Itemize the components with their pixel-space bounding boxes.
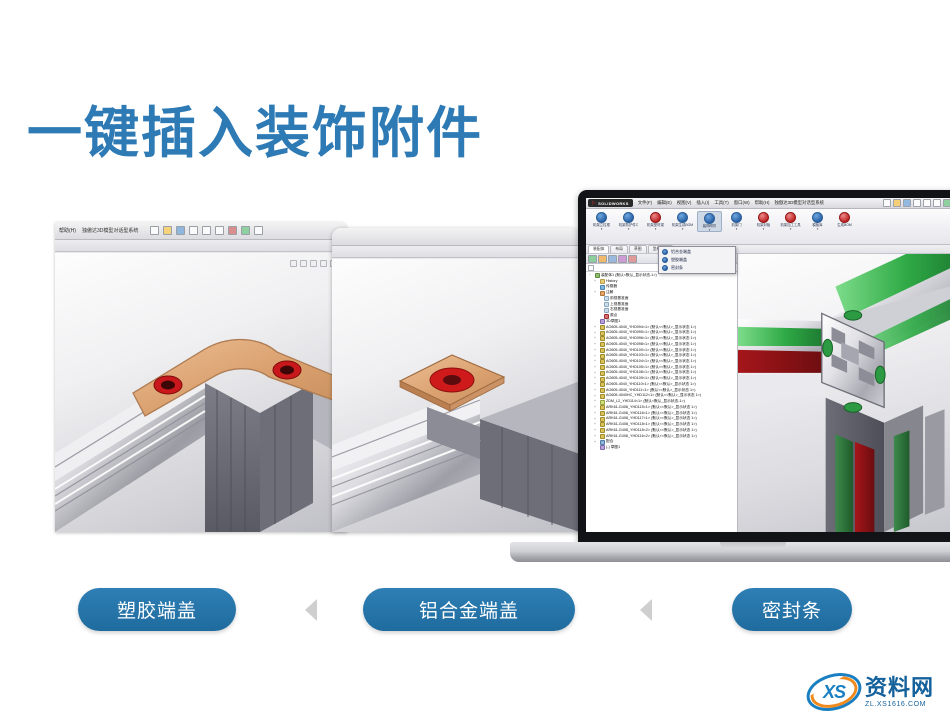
expand-icon[interactable]: + xyxy=(594,422,598,427)
chevron-down-icon[interactable]: ▾ xyxy=(682,228,684,231)
extrusion-corner-3d-model xyxy=(738,254,950,532)
menu-insert[interactable]: 插入(I) xyxy=(696,200,709,206)
part-icon xyxy=(600,388,605,393)
dropdown-label: 密封条 xyxy=(671,265,683,271)
configuration-manager-icon[interactable] xyxy=(608,255,617,263)
expand-icon[interactable]: + xyxy=(594,440,598,445)
ribbon-button-frame-beam[interactable]: 机架型材梁 ▾ xyxy=(643,211,668,230)
cad-left-toolbar[interactable] xyxy=(150,226,263,235)
open-folder-icon[interactable] xyxy=(163,226,172,235)
open-folder-icon[interactable] xyxy=(893,199,901,207)
tree-node-label: (-) 草图1 xyxy=(606,445,620,451)
expand-icon[interactable]: + xyxy=(594,382,598,387)
part-icon xyxy=(600,354,605,359)
decor-accessory-icon xyxy=(704,213,715,224)
watermark-text: 资料网 ZL.XS1616.COM xyxy=(865,677,934,708)
dropdown-item-seal-strip[interactable]: 密封条 xyxy=(659,264,735,272)
solidworks-app: ▷ SOLIDWORKS 文件(F) 编辑(E) 视图(V) 插入(I) 工具(… xyxy=(586,198,950,532)
sketch-icon xyxy=(600,445,605,450)
frame-door-icon xyxy=(731,212,742,223)
watermark-mark: XS xyxy=(806,674,862,710)
chevron-down-icon[interactable]: ▾ xyxy=(628,228,630,231)
part-icon xyxy=(600,359,605,364)
expand-icon[interactable]: + xyxy=(594,411,598,416)
chevron-down-icon[interactable]: ▾ xyxy=(817,228,819,231)
ribbon-button-generate-bom[interactable]: 生成BOM xyxy=(832,211,857,228)
part-icon xyxy=(600,422,605,427)
left-arrow-icon-1 xyxy=(305,599,317,621)
tree-node[interactable]: (-) 草图1 xyxy=(587,445,737,451)
part-icon xyxy=(600,371,605,376)
expand-icon[interactable]: + xyxy=(594,279,598,284)
part-icon xyxy=(600,417,605,422)
part-icon xyxy=(600,336,605,341)
part-icon xyxy=(600,411,605,416)
sens-icon xyxy=(600,285,605,290)
select-icon[interactable] xyxy=(215,226,224,235)
chevron-down-icon[interactable]: ▾ xyxy=(655,228,657,231)
expand-icon[interactable]: + xyxy=(594,331,598,336)
frame-bom-icon xyxy=(677,212,688,223)
undo-icon[interactable] xyxy=(202,226,211,235)
button-alu-endcap[interactable]: 铝合金端盖 xyxy=(363,588,575,631)
measure-icon[interactable] xyxy=(228,226,237,235)
solidworks-logo: ▷ SOLIDWORKS xyxy=(588,199,633,207)
root-icon xyxy=(595,273,600,278)
dropdown-label: 铝合金端盖 xyxy=(671,249,691,255)
part-icon xyxy=(600,325,605,330)
button-seal-strip[interactable]: 密封条 xyxy=(732,588,852,631)
undo-icon[interactable] xyxy=(923,199,931,207)
cad-left-doc-name: 独傲达3D模型对话型系统 xyxy=(82,227,138,234)
ribbon-button-frame-door[interactable]: 机架门 ▾ xyxy=(724,211,749,230)
plane-icon xyxy=(604,308,609,313)
expand-icon[interactable]: + xyxy=(594,371,598,376)
part-icon xyxy=(600,405,605,410)
appearance-manager-icon[interactable] xyxy=(628,255,637,263)
options-icon[interactable] xyxy=(254,226,263,235)
ribbon-button-template-library[interactable]: 模板库 ▾ xyxy=(805,211,830,230)
laptop-screen: ▷ SOLIDWORKS 文件(F) 编辑(E) 视图(V) 插入(I) 工具(… xyxy=(578,190,950,542)
part-icon xyxy=(600,331,605,336)
menu-tools[interactable]: 工具(T) xyxy=(714,200,728,206)
expand-icon[interactable]: + xyxy=(594,342,598,347)
chevron-down-icon[interactable]: ▾ xyxy=(790,228,792,231)
part-icon xyxy=(600,394,605,399)
button-plastic-endcap[interactable]: 塑胶端盖 xyxy=(78,588,236,631)
watermark-name: 资料网 xyxy=(865,677,934,699)
menu-edit[interactable]: 编辑(E) xyxy=(657,200,672,206)
tree-node-label: ARK61-G408_YHD116<2> (默认<<默认>_显示状态 1>) xyxy=(606,434,697,440)
watermark: XS 资料网 ZL.XS1616.COM xyxy=(806,668,946,716)
hist-icon xyxy=(600,279,605,284)
print-icon[interactable] xyxy=(189,226,198,235)
seal-strip-icon xyxy=(662,265,668,271)
cad-left-menu[interactable]: 帮助(H) xyxy=(59,227,76,234)
frame-column-icon xyxy=(596,212,607,223)
solidworks-quick-access-toolbar[interactable] xyxy=(883,199,950,207)
ribbon-button-frame-guard[interactable]: 机架防护件C ▾ xyxy=(616,211,641,230)
ribbon-button-frame-bom[interactable]: 机架生成BOM ▾ xyxy=(670,211,695,230)
ribbon-button-frame-panel[interactable]: 机架封板 ▾ xyxy=(751,211,776,230)
part-icon xyxy=(600,342,605,347)
property-manager-icon[interactable] xyxy=(598,255,607,263)
solidworks-ribbon[interactable]: 机架立柱框 ▾ 机架防护件C ▾ 机架型材梁 ▾ xyxy=(586,209,950,245)
laptop-notch xyxy=(720,542,786,549)
feature-manager-panel[interactable]: −装配体1 (默认<默认_显示状态-1>)+History传感器+注解前视基准面… xyxy=(586,254,738,532)
expand-icon[interactable]: + xyxy=(594,417,598,422)
solidworks-logo-text: SOLIDWORKS xyxy=(598,201,629,206)
solidworks-command-tabs[interactable]: 装配体 布局 草图 型材系列 xyxy=(586,245,950,254)
menu-help[interactable]: 帮助(H) xyxy=(755,200,770,206)
expand-icon[interactable]: + xyxy=(594,376,598,381)
expand-icon[interactable]: + xyxy=(594,359,598,364)
plane-icon xyxy=(604,302,609,307)
part-icon xyxy=(600,428,605,433)
expand-icon[interactable]: + xyxy=(594,399,598,404)
new-document-icon[interactable] xyxy=(883,199,891,207)
expand-icon[interactable]: + xyxy=(594,354,598,359)
feature-tree[interactable]: −装配体1 (默认<默认_显示状态-1>)+History传感器+注解前视基准面… xyxy=(586,272,737,532)
menu-view[interactable]: 视图(V) xyxy=(677,200,692,206)
collapse-icon[interactable]: − xyxy=(589,273,593,278)
decor-accessory-dropdown[interactable]: 铝合金端盖 塑胶端盖 密封条 xyxy=(658,246,736,274)
print-icon[interactable] xyxy=(913,199,921,207)
tab-assembly[interactable]: 装配体 xyxy=(588,245,609,253)
appearance-icon[interactable] xyxy=(241,226,250,235)
page-title: 一键插入装饰附件 xyxy=(27,88,483,168)
expand-icon[interactable]: + xyxy=(594,348,598,353)
tab-sketch[interactable]: 草图 xyxy=(629,245,647,253)
menu-file[interactable]: 文件(F) xyxy=(638,200,652,206)
expand-icon[interactable]: + xyxy=(594,336,598,341)
cad-left-3d-model xyxy=(55,253,347,532)
mate-icon xyxy=(600,440,605,445)
part-icon xyxy=(600,348,605,353)
chevron-down-icon[interactable]: ▾ xyxy=(601,228,603,231)
feature-tree-icon[interactable] xyxy=(588,255,597,263)
expand-icon[interactable]: + xyxy=(594,405,598,410)
new-document-icon[interactable] xyxy=(150,226,159,235)
expand-icon[interactable]: + xyxy=(594,290,598,295)
ribbon-button-machining-tool[interactable]: 机架加工工具 ▾ xyxy=(778,211,803,230)
expand-icon[interactable]: + xyxy=(594,434,598,439)
cad-left-viewport[interactable] xyxy=(55,253,347,532)
template-library-icon xyxy=(812,212,823,223)
part-icon xyxy=(600,365,605,370)
laptop-mockup: ▷ SOLIDWORKS 文件(F) 编辑(E) 视图(V) 插入(I) 工具(… xyxy=(510,190,950,570)
solidworks-menu-items[interactable]: 文件(F) 编辑(E) 视图(V) 插入(I) 工具(T) 窗口(W) 帮助(H… xyxy=(638,200,770,206)
ribbon-label: 生成BOM xyxy=(837,224,852,228)
part-icon xyxy=(600,382,605,387)
chevron-down-icon[interactable]: ▾ xyxy=(709,229,711,232)
cad-left-menu-help[interactable]: 帮助(H) xyxy=(59,227,76,234)
cad-left-titlebar: 帮助(H) 独傲达3D模型对话型系统 xyxy=(55,222,347,240)
solidworks-menubar: ▷ SOLIDWORKS 文件(F) 编辑(E) 视图(V) 插入(I) 工具(… xyxy=(586,198,950,209)
tab-layout[interactable]: 布局 xyxy=(610,245,628,253)
save-icon[interactable] xyxy=(176,226,185,235)
generate-bom-icon xyxy=(839,212,850,223)
expand-icon[interactable]: + xyxy=(594,388,598,393)
rebuild-icon[interactable] xyxy=(933,199,941,207)
plane-icon xyxy=(604,296,609,301)
alu-endcap-icon xyxy=(662,249,668,255)
expand-icon[interactable]: + xyxy=(594,365,598,370)
solidworks-doc-name: 独傲达3D模型对话型系统 xyxy=(774,200,824,206)
part-icon xyxy=(600,434,605,439)
laptop-base xyxy=(510,542,950,562)
chevron-down-icon[interactable]: ▾ xyxy=(763,228,765,231)
origin-icon xyxy=(604,314,609,319)
expand-icon[interactable]: + xyxy=(594,394,598,399)
options-icon[interactable] xyxy=(943,199,950,207)
ribbon-button-frame-column[interactable]: 机架立柱框 ▾ xyxy=(589,211,614,230)
cad-window-plastic-endcap: 帮助(H) 独傲达3D模型对话型系统 xyxy=(55,222,347,532)
save-icon[interactable] xyxy=(903,199,911,207)
expand-icon[interactable]: + xyxy=(594,428,598,433)
chevron-down-icon[interactable]: ▾ xyxy=(736,228,738,231)
machining-tool-icon xyxy=(785,212,796,223)
display-manager-icon[interactable] xyxy=(618,255,627,263)
expand-icon[interactable]: + xyxy=(594,325,598,330)
left-arrow-icon-2 xyxy=(640,599,652,621)
filter-icon xyxy=(588,265,594,271)
laptop-display: ▷ SOLIDWORKS 文件(F) 编辑(E) 视图(V) 插入(I) 工具(… xyxy=(586,198,950,532)
cad-left-subbar xyxy=(55,240,347,252)
frame-panel-icon xyxy=(758,212,769,223)
solidworks-graphics-area[interactable] xyxy=(738,254,950,532)
part-icon xyxy=(600,377,605,382)
watermark-logo-icon: XS xyxy=(806,674,862,710)
menu-window[interactable]: 窗口(W) xyxy=(734,200,750,206)
dropdown-item-plastic-endcap[interactable]: 塑胶端盖 xyxy=(659,256,735,264)
solidworks-body: −装配体1 (默认<默认_显示状态-1>)+History传感器+注解前视基准面… xyxy=(586,254,950,532)
plastic-endcap-icon xyxy=(662,257,668,263)
accessory-button-row: 塑胶端盖 铝合金端盖 密封条 xyxy=(0,588,950,636)
dropdown-item-alu-endcap[interactable]: 铝合金端盖 xyxy=(659,248,735,256)
solidworks-logo-mark: ▷ xyxy=(592,200,596,206)
part2-icon xyxy=(600,400,605,405)
frame-beam-icon xyxy=(650,212,661,223)
sketch-icon xyxy=(600,319,605,324)
ribbon-button-decor-accessory[interactable]: 装饰附件 ▾ xyxy=(697,211,722,232)
note-icon xyxy=(600,291,605,296)
watermark-url: ZL.XS1616.COM xyxy=(865,701,934,708)
frame-guard-icon xyxy=(623,212,634,223)
dropdown-label: 塑胶端盖 xyxy=(671,257,687,263)
